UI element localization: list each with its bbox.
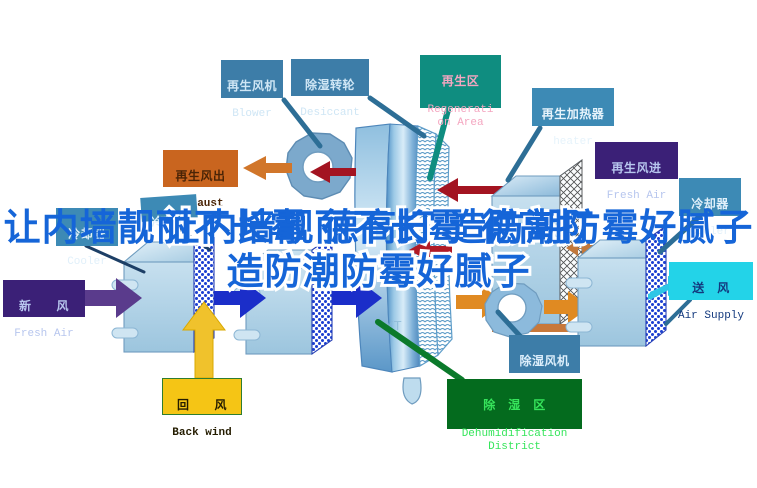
label-cn: 再生区 [420,75,501,88]
label-cn: 除湿转轮 [291,79,369,92]
label-cn: 再生风出 [163,170,238,183]
label-regeneration-area[interactable]: 再生区 Regenerati on Area [420,55,501,108]
label-en: Air Supply [669,311,753,323]
label-cn: 冷却器 [56,228,118,241]
label-cn: 除 湿 区 [447,399,582,412]
label-cn: 回 风 [163,399,241,412]
label-cn: 再生风机 [221,80,283,93]
label-cn: 再生加热器 [532,108,614,121]
label-exhaust[interactable]: 再生风出 Exhaust [163,150,238,187]
label-cn: 再生风进 [595,162,678,175]
label-cooler-left-upper[interactable]: 冷却器 [140,194,198,222]
label-en: Dehumidification District [447,428,582,454]
label-cn: 除湿风机 [509,355,580,368]
label-regeneration-heater[interactable]: 再生加热器 heater [532,88,614,126]
label-air-supply[interactable]: 送 风 Air Supply [669,262,753,300]
label-desiccant-rotor[interactable]: 除湿转轮 Desiccant [291,59,369,96]
label-en: Blower [221,109,283,121]
label-en: Cooler [56,257,118,269]
label-regeneration-blower[interactable]: 再生风机 Blower [221,60,283,98]
label-en: Fresh Air [3,329,85,341]
label-en: Regenerati on Area [420,104,501,129]
label-cn: 送 风 [669,282,753,295]
diagram-canvas: XT [0,0,757,488]
label-cooler-right[interactable]: 冷却器 Cooler [679,178,741,216]
label-cn: 冷却器 [142,213,199,229]
label-en: Fresh Air [595,191,678,203]
label-regeneration-fresh-air[interactable]: 再生风进 Fresh Air [595,142,678,179]
label-dehumidification-district[interactable]: 除 湿 区 Dehumidification District [447,379,582,429]
label-en: Desiccant [291,108,369,120]
label-cn: 冷却器 [679,198,741,211]
label-cooler-left[interactable]: 冷却器 Cooler [56,208,118,246]
label-back-wind[interactable]: 回 风 Back wind [162,378,242,415]
label-en: Back wind [163,428,241,440]
label-dehumidification-blower[interactable]: 除湿风机 Blower [509,335,580,373]
exhaust-arrow [243,156,292,180]
label-fresh-air-inlet[interactable]: 新 风 Fresh Air [3,280,85,317]
label-cn: 新 风 [3,300,85,313]
label-en: Cooler [679,227,741,239]
